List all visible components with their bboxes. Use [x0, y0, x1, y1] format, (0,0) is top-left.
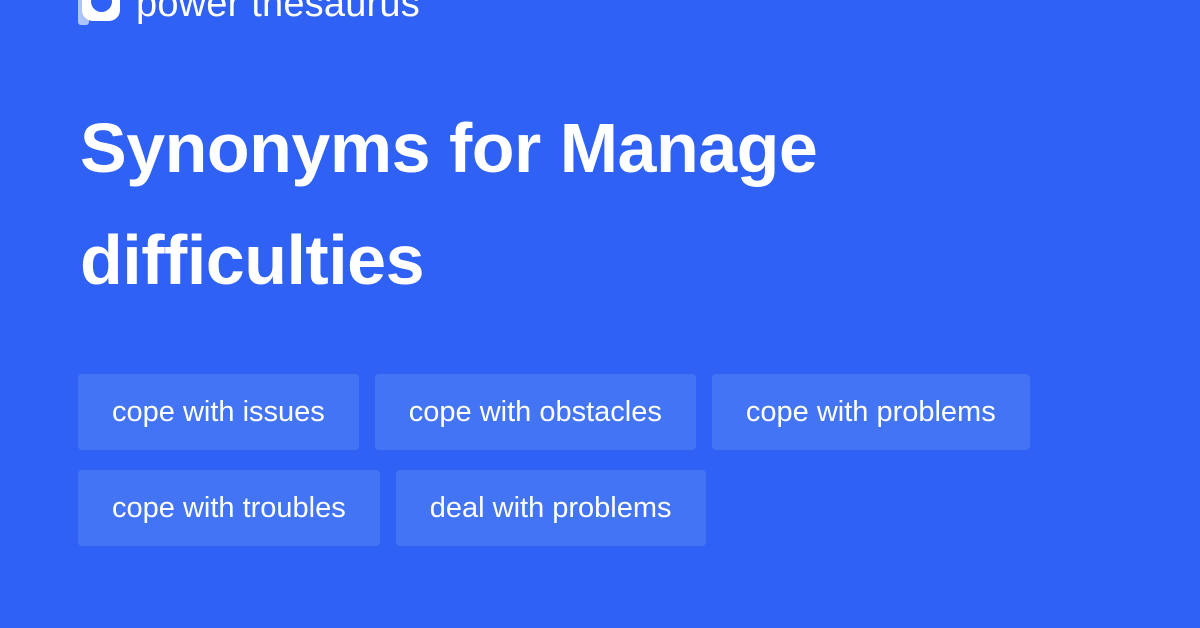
synonym-chip[interactable]: cope with issues [78, 374, 359, 450]
share-card: power thesaurus Synonyms for Manage diff… [0, 0, 1200, 628]
brand-header[interactable]: power thesaurus [78, 0, 420, 30]
page-title: Synonyms for Manage difficulties [80, 92, 1080, 316]
synonym-chip[interactable]: cope with troubles [78, 470, 380, 546]
power-thesaurus-p-logo-icon [78, 0, 120, 25]
synonym-chip[interactable]: cope with obstacles [375, 374, 696, 450]
synonym-chip[interactable]: cope with problems [712, 374, 1030, 450]
brand-name: power thesaurus [136, 0, 420, 25]
synonym-chip-list: cope with issues cope with obstacles cop… [78, 374, 1138, 546]
synonym-chip[interactable]: deal with problems [396, 470, 706, 546]
